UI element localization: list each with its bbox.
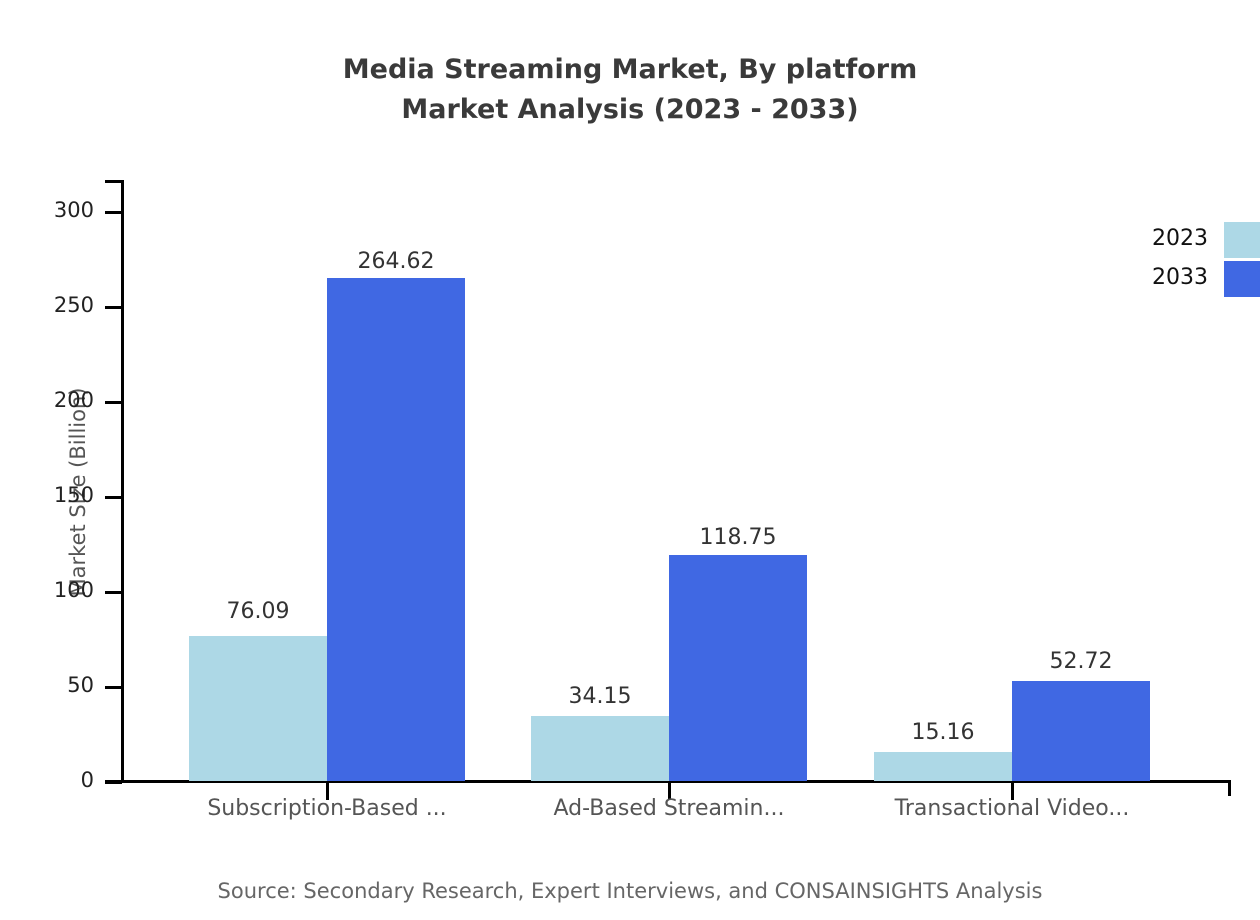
bar-2033-transactional-video[interactable] [1012, 681, 1150, 781]
legend-swatch-2023 [1224, 222, 1260, 258]
chart-title: Media Streaming Market, By platform Mark… [0, 50, 1260, 130]
x-tick-label-0: Subscription-Based ... [157, 795, 497, 823]
y-axis-spine [121, 180, 124, 783]
bar-value-2033-ad-based-streaming: 118.75 [648, 526, 828, 550]
x-tick-label-1: Ad-Based Streamin... [499, 795, 839, 823]
y-axis-top-cap [105, 180, 124, 183]
y-tick-0 [105, 781, 122, 784]
legend-item-2033[interactable]: 2033 [1100, 258, 1260, 298]
y-tick-label-100: 100 [0, 580, 94, 601]
y-tick-label-250: 250 [0, 295, 94, 316]
bar-2023-ad-based-streaming[interactable] [531, 716, 669, 781]
y-tick-250 [105, 306, 122, 309]
bar-value-2033-transactional-video: 52.72 [991, 650, 1171, 674]
y-tick-label-150: 150 [0, 485, 94, 506]
y-tick-label-300: 300 [0, 200, 94, 221]
y-tick-label-0: 0 [0, 770, 94, 791]
y-tick-50 [105, 686, 122, 689]
bar-value-2033-subscription-based: 264.62 [306, 250, 486, 274]
y-tick-label-200: 200 [0, 390, 94, 411]
y-tick-200 [105, 401, 122, 404]
legend-label-2023: 2023 [1100, 227, 1208, 251]
x-axis-right-cap [1228, 780, 1231, 796]
source-note: Source: Secondary Research, Expert Inter… [0, 878, 1260, 904]
bar-2023-subscription-based[interactable] [189, 636, 327, 781]
bar-2023-transactional-video[interactable] [874, 752, 1012, 781]
y-tick-label-50: 50 [0, 675, 94, 696]
bar-value-2023-ad-based-streaming: 34.15 [510, 685, 690, 709]
bar-2033-subscription-based[interactable] [327, 278, 465, 781]
legend-swatch-2033 [1224, 261, 1260, 297]
y-tick-100 [105, 591, 122, 594]
legend-label-2033: 2033 [1100, 266, 1208, 290]
y-tick-150 [105, 496, 122, 499]
chart-figure: Media Streaming Market, By platform Mark… [0, 0, 1260, 920]
chart-legend: 2023 2033 [1100, 215, 1260, 310]
y-tick-300 [105, 211, 122, 214]
bar-2033-ad-based-streaming[interactable] [669, 555, 807, 781]
legend-item-2023[interactable]: 2023 [1100, 219, 1260, 259]
chart-title-line2: Market Analysis (2023 - 2033) [0, 90, 1260, 130]
bar-value-2023-transactional-video: 15.16 [853, 721, 1033, 745]
x-tick-label-2: Transactional Video... [842, 795, 1182, 823]
chart-title-line1: Media Streaming Market, By platform [343, 54, 917, 85]
bar-value-2023-subscription-based: 76.09 [168, 600, 348, 624]
